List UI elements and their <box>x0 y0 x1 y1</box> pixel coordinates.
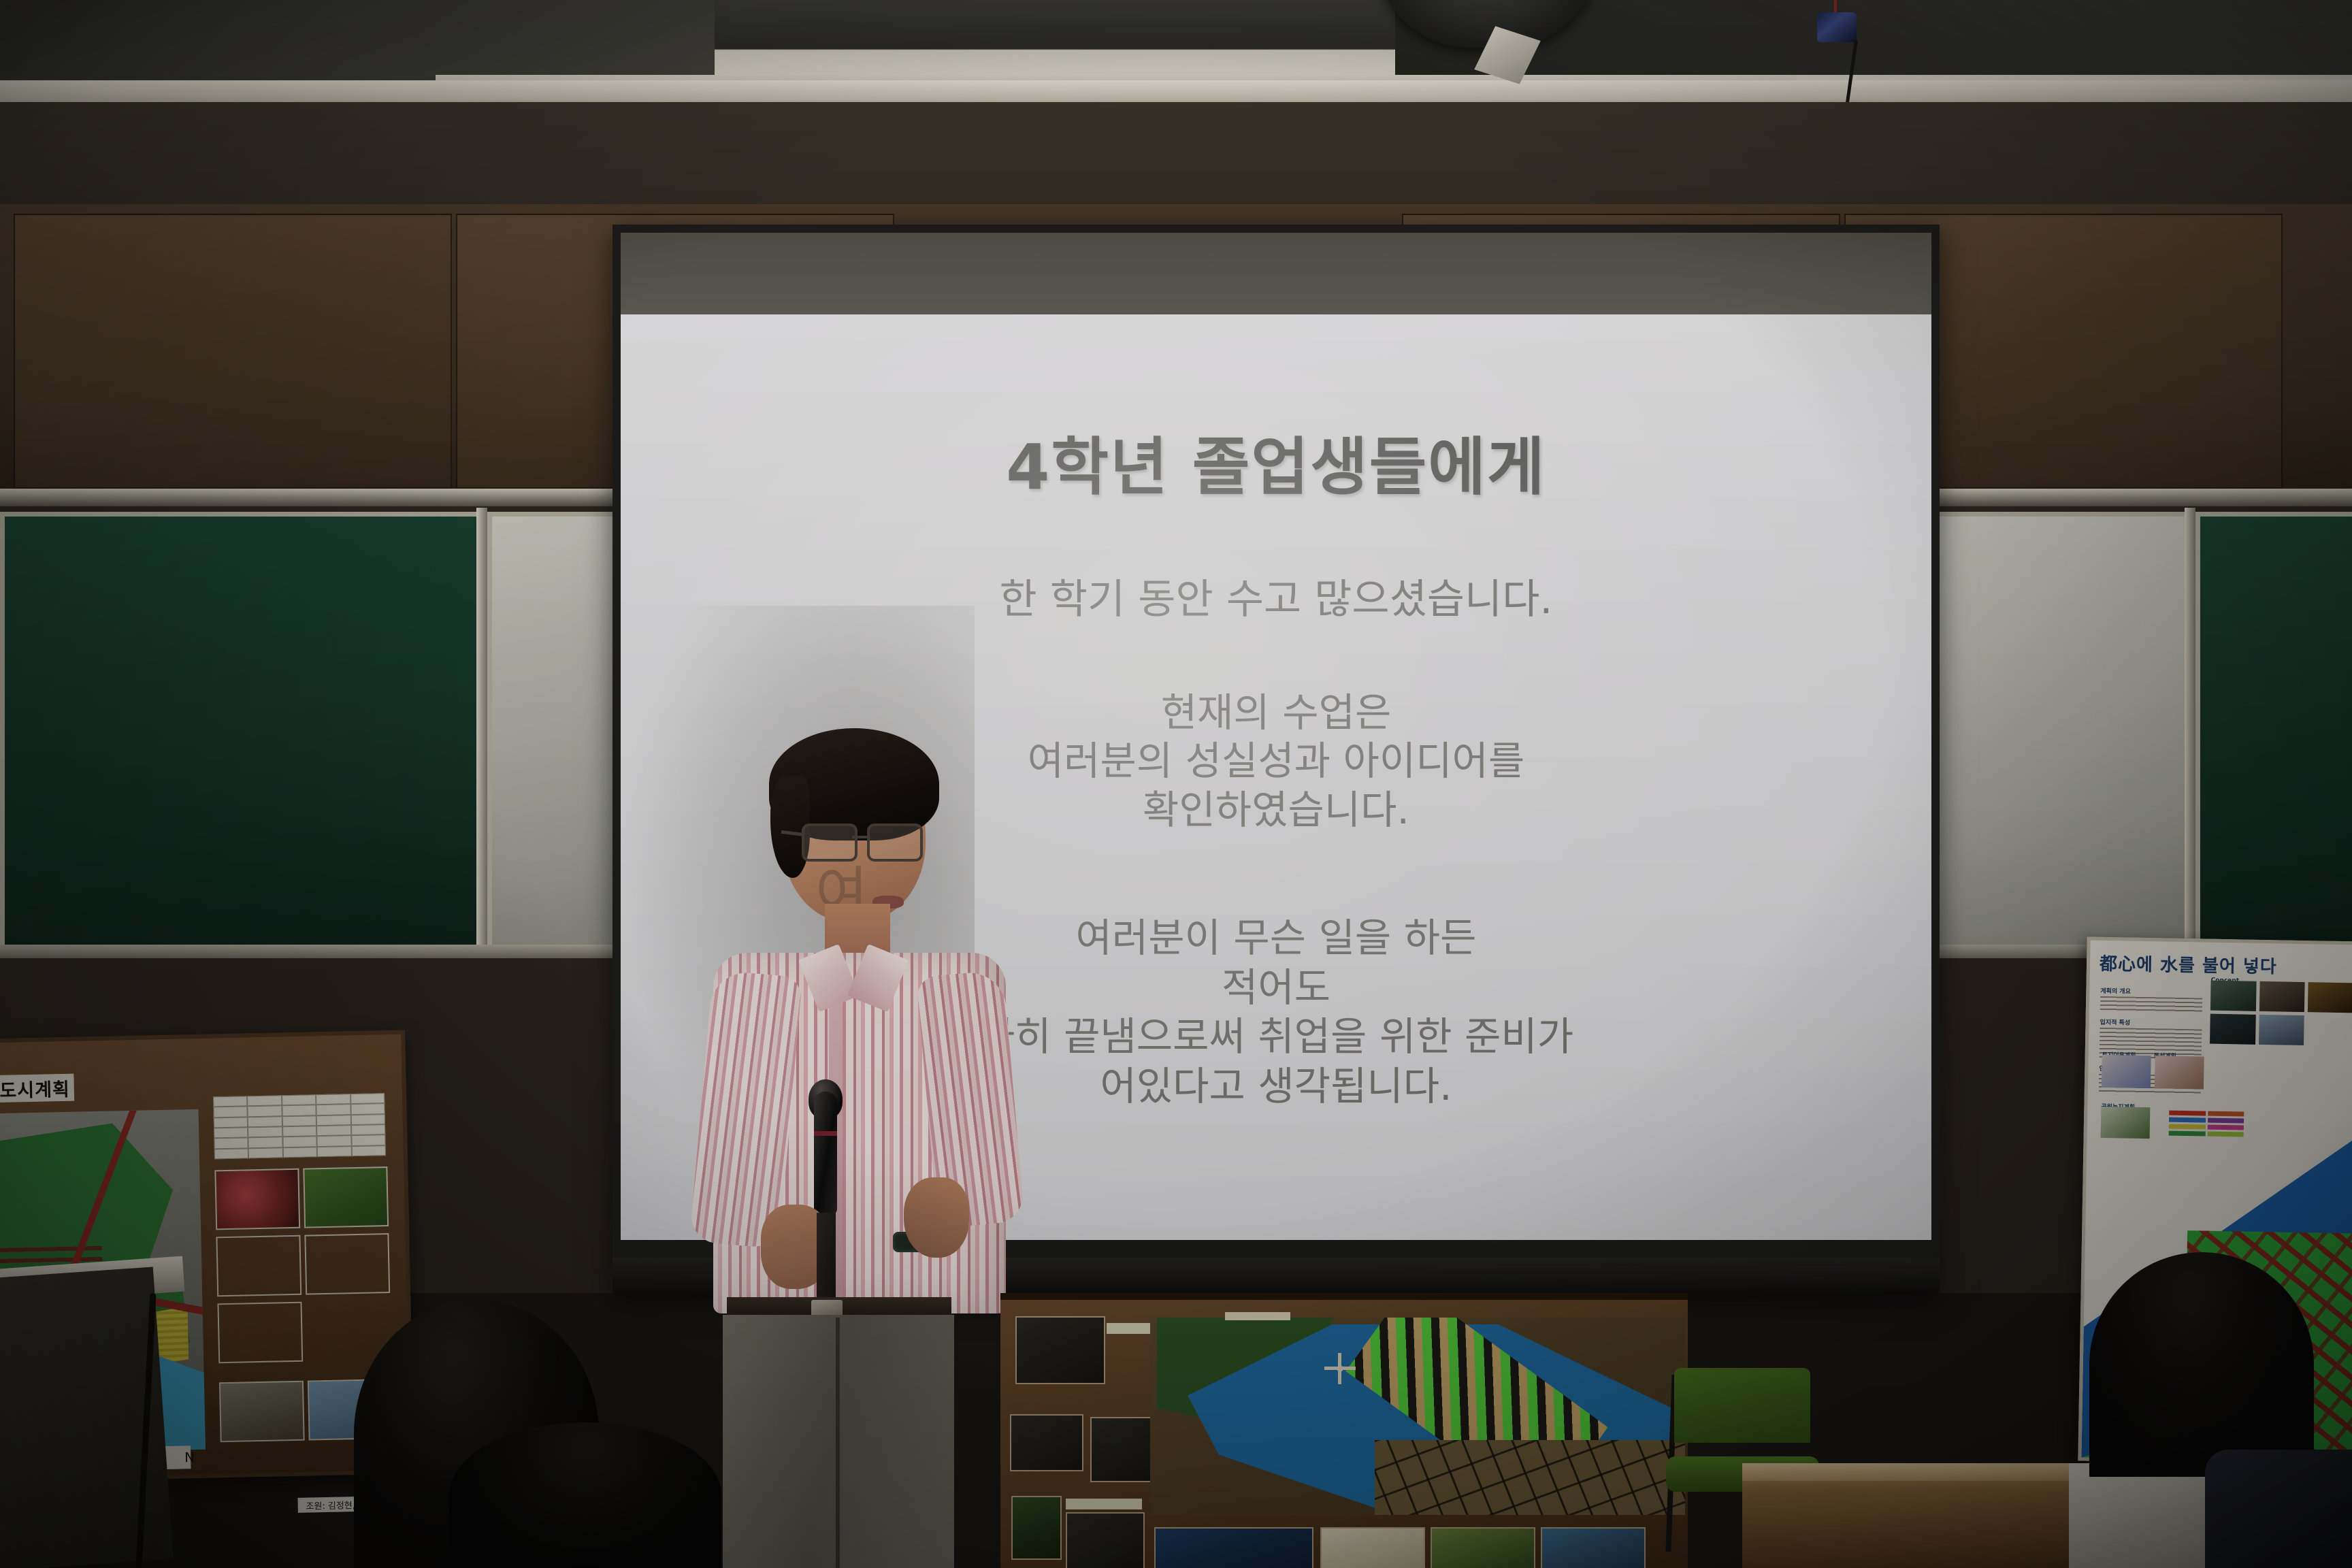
cabinet-door[interactable] <box>14 214 452 489</box>
chair-backrest <box>1674 1368 1810 1443</box>
legend-swatch <box>2208 1111 2244 1117</box>
board-drawing <box>1320 1527 1425 1568</box>
screen-top-margin <box>621 233 1931 314</box>
board-photo <box>1011 1496 1062 1560</box>
street-grid <box>1375 1440 1685 1515</box>
zone-diagram <box>2101 1107 2151 1139</box>
right-poster-title: 都心에 水를 불어 넣다 <box>2100 950 2277 979</box>
presenter-hand-right <box>904 1177 969 1258</box>
legend-swatch <box>2207 1132 2244 1137</box>
perspective-render <box>219 1381 305 1443</box>
right-poster-diagrams <box>2102 1055 2204 1090</box>
analysis-thumbnail <box>216 1235 301 1297</box>
compass-rose-icon <box>1328 1357 1352 1380</box>
board-photo <box>1066 1512 1145 1568</box>
desk-top-surface <box>1742 1463 2123 1481</box>
left-poster-data-table <box>213 1093 386 1159</box>
microphone-body-upper[interactable] <box>814 1092 837 1214</box>
audience-head-front-right <box>2089 1252 2314 1477</box>
legend-swatch <box>2169 1131 2206 1137</box>
slide-line-1: 한 학기 동안 수고 많으셨습니다. <box>621 566 1931 625</box>
reference-photo <box>2210 981 2256 1011</box>
center-cork-board <box>1000 1293 1688 1568</box>
legend-swatch <box>2169 1111 2206 1116</box>
board-photo <box>1010 1414 1083 1471</box>
glasses-bridge <box>852 836 867 838</box>
ceiling-sensor-device <box>1817 12 1857 42</box>
center-board-title-label <box>1225 1312 1290 1320</box>
chalkboard-left <box>0 512 486 957</box>
analysis-thumbnail <box>214 1169 300 1230</box>
section-heading: 입지적 특성 <box>2100 1017 2202 1028</box>
zone-diagram <box>2155 1056 2204 1089</box>
board-frame-divider <box>2185 508 2195 954</box>
legend-swatch <box>2169 1124 2206 1130</box>
trouser-crease <box>836 1318 840 1568</box>
analysis-thumbnail <box>303 1166 389 1228</box>
reference-photo <box>2259 1015 2304 1045</box>
chalkboard-right <box>2195 512 2352 957</box>
presenter: 여 <box>674 728 1055 1568</box>
board-photo <box>1015 1316 1105 1384</box>
reference-photo <box>2259 981 2305 1012</box>
glasses-lens-right <box>867 823 923 862</box>
microphone-ring <box>814 1131 837 1136</box>
board-frame-divider <box>476 508 487 954</box>
north-arrow-icon: N <box>184 1449 195 1465</box>
chalk-tray-left <box>0 945 719 958</box>
analysis-thumbnail <box>217 1302 303 1364</box>
audience-bag-strap <box>2205 1450 2352 1568</box>
right-poster-photo-grid <box>2210 981 2352 1047</box>
legend-swatch <box>2207 1125 2244 1130</box>
section-heading: 계획의 개요 <box>2100 986 2202 997</box>
board-photo <box>1090 1417 1153 1482</box>
section-text-lines <box>2100 996 2202 1013</box>
reference-photo <box>2308 982 2352 1013</box>
zone-diagram <box>2102 1055 2151 1088</box>
whiteboard-right <box>1899 512 2194 957</box>
board-drawing <box>1541 1527 1646 1568</box>
lecture-room-photo: 4학년 졸업생들에게 한 학기 동안 수고 많으셨습니다. 현재의 수업은 여러… <box>0 0 2352 1568</box>
board-photo-label <box>1066 1499 1142 1509</box>
audience-head-front-center <box>449 1422 721 1568</box>
reference-photo-empty <box>2307 1015 2352 1046</box>
left-poster-title: 도시계획 <box>0 1074 74 1103</box>
ceiling-panel-left <box>0 0 715 82</box>
slide-title: 4학년 졸업생들에게 <box>621 416 1931 507</box>
analysis-thumbnail <box>304 1233 390 1295</box>
center-board-site-plan <box>1150 1318 1685 1515</box>
reference-photo <box>2210 1014 2255 1045</box>
board-info-panel <box>1154 1527 1313 1568</box>
right-poster-legend <box>2169 1111 2244 1137</box>
legend-swatch <box>2208 1118 2244 1124</box>
legend-swatch <box>2169 1117 2206 1123</box>
board-drawing <box>1431 1527 1535 1568</box>
